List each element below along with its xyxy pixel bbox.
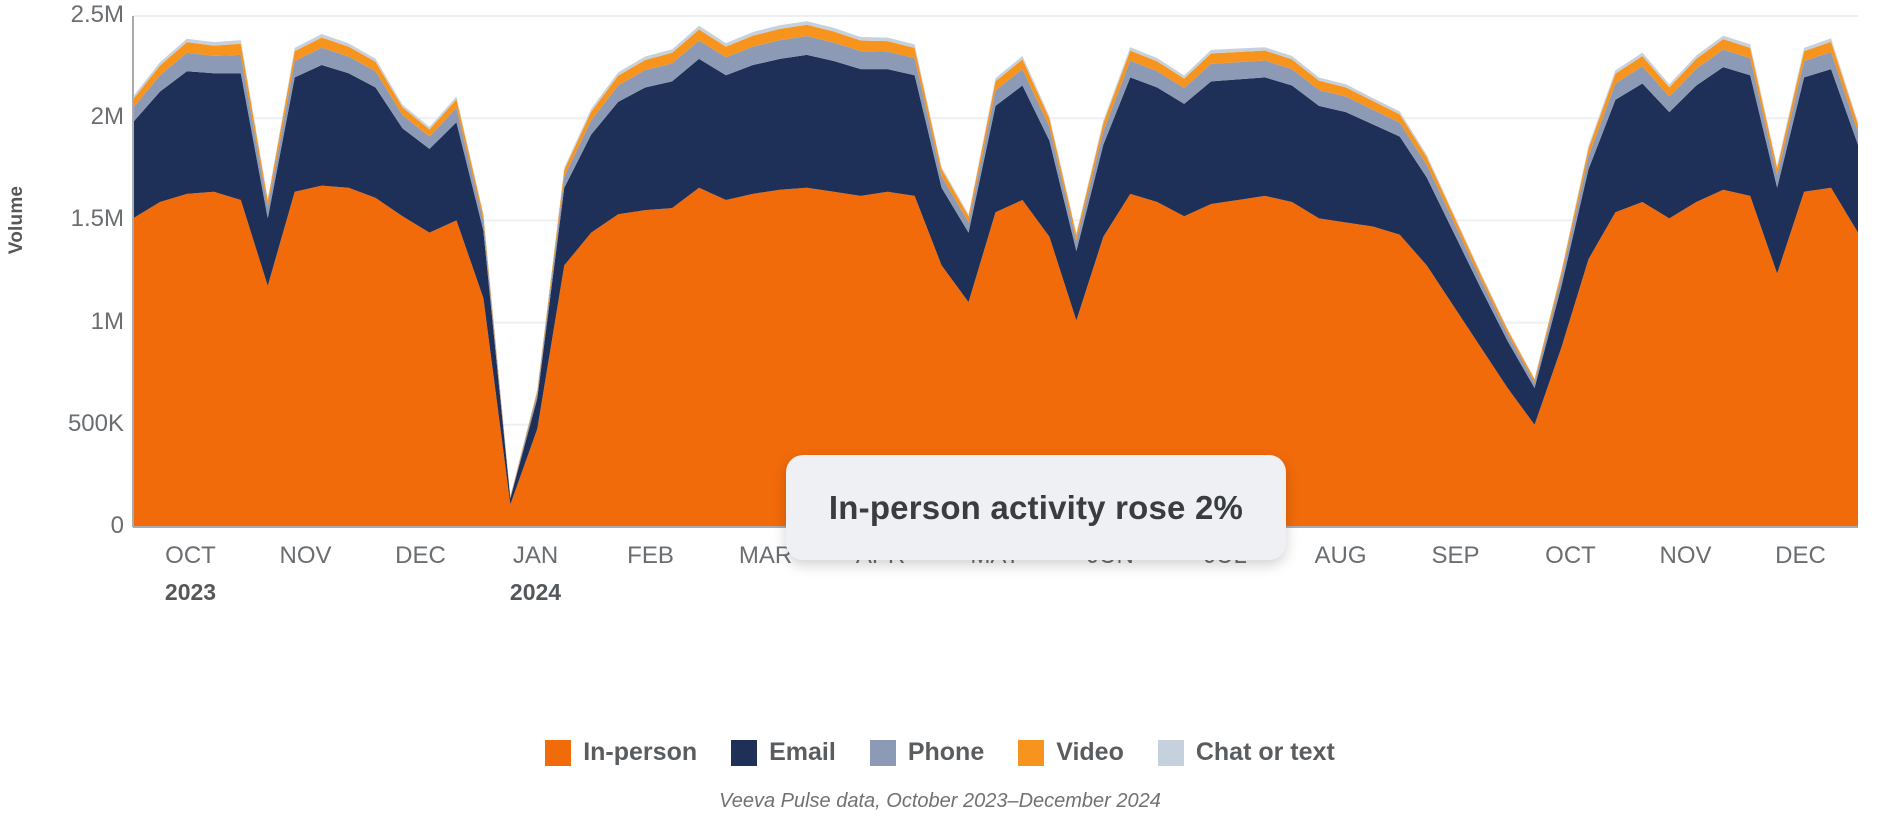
x-axis-tick: MAR bbox=[739, 542, 792, 570]
x-axis-tick: DEC bbox=[395, 542, 446, 570]
legend-item-video[interactable]: Video bbox=[1018, 738, 1124, 767]
legend-label: In-person bbox=[583, 738, 697, 767]
legend-swatch-icon bbox=[731, 740, 757, 766]
x-axis-tick: NOV bbox=[279, 542, 331, 570]
legend-label: Phone bbox=[908, 738, 984, 767]
legend-item-email[interactable]: Email bbox=[731, 738, 836, 767]
legend-item-in-person[interactable]: In-person bbox=[545, 738, 697, 767]
legend-swatch-icon bbox=[1018, 740, 1044, 766]
legend-swatch-icon bbox=[870, 740, 896, 766]
x-axis-tick: SEP bbox=[1431, 542, 1479, 570]
x-axis-year: 2023 bbox=[165, 579, 216, 606]
legend-label: Chat or text bbox=[1196, 738, 1335, 767]
chart-container: Volume 2.5M2M1.5M1M500K0 OCT2023NOVDECJA… bbox=[0, 0, 1880, 833]
legend-item-chat-or-text[interactable]: Chat or text bbox=[1158, 738, 1335, 767]
x-axis-year: 2024 bbox=[510, 579, 561, 606]
x-axis-tick: JAN2024 bbox=[510, 542, 561, 606]
legend-item-phone[interactable]: Phone bbox=[870, 738, 984, 767]
legend-swatch-icon bbox=[545, 740, 571, 766]
stacked-area-plot bbox=[0, 0, 1880, 833]
x-axis-tick: OCT2023 bbox=[165, 542, 216, 606]
legend-swatch-icon bbox=[1158, 740, 1184, 766]
chart-caption: Veeva Pulse data, October 2023–December … bbox=[0, 790, 1880, 813]
x-axis-tick: FEB bbox=[627, 542, 674, 570]
x-axis-tick: DEC bbox=[1775, 542, 1826, 570]
x-axis-tick: NOV bbox=[1659, 542, 1711, 570]
x-axis-tick: AUG bbox=[1314, 542, 1366, 570]
legend-label: Video bbox=[1056, 738, 1124, 767]
x-axis-tick: OCT bbox=[1545, 542, 1596, 570]
annotation-text: In-person activity rose 2% bbox=[829, 489, 1243, 527]
annotation-callout: In-person activity rose 2% bbox=[786, 455, 1286, 560]
chart-legend: In-personEmailPhoneVideoChat or text bbox=[0, 738, 1880, 767]
legend-label: Email bbox=[769, 738, 836, 767]
